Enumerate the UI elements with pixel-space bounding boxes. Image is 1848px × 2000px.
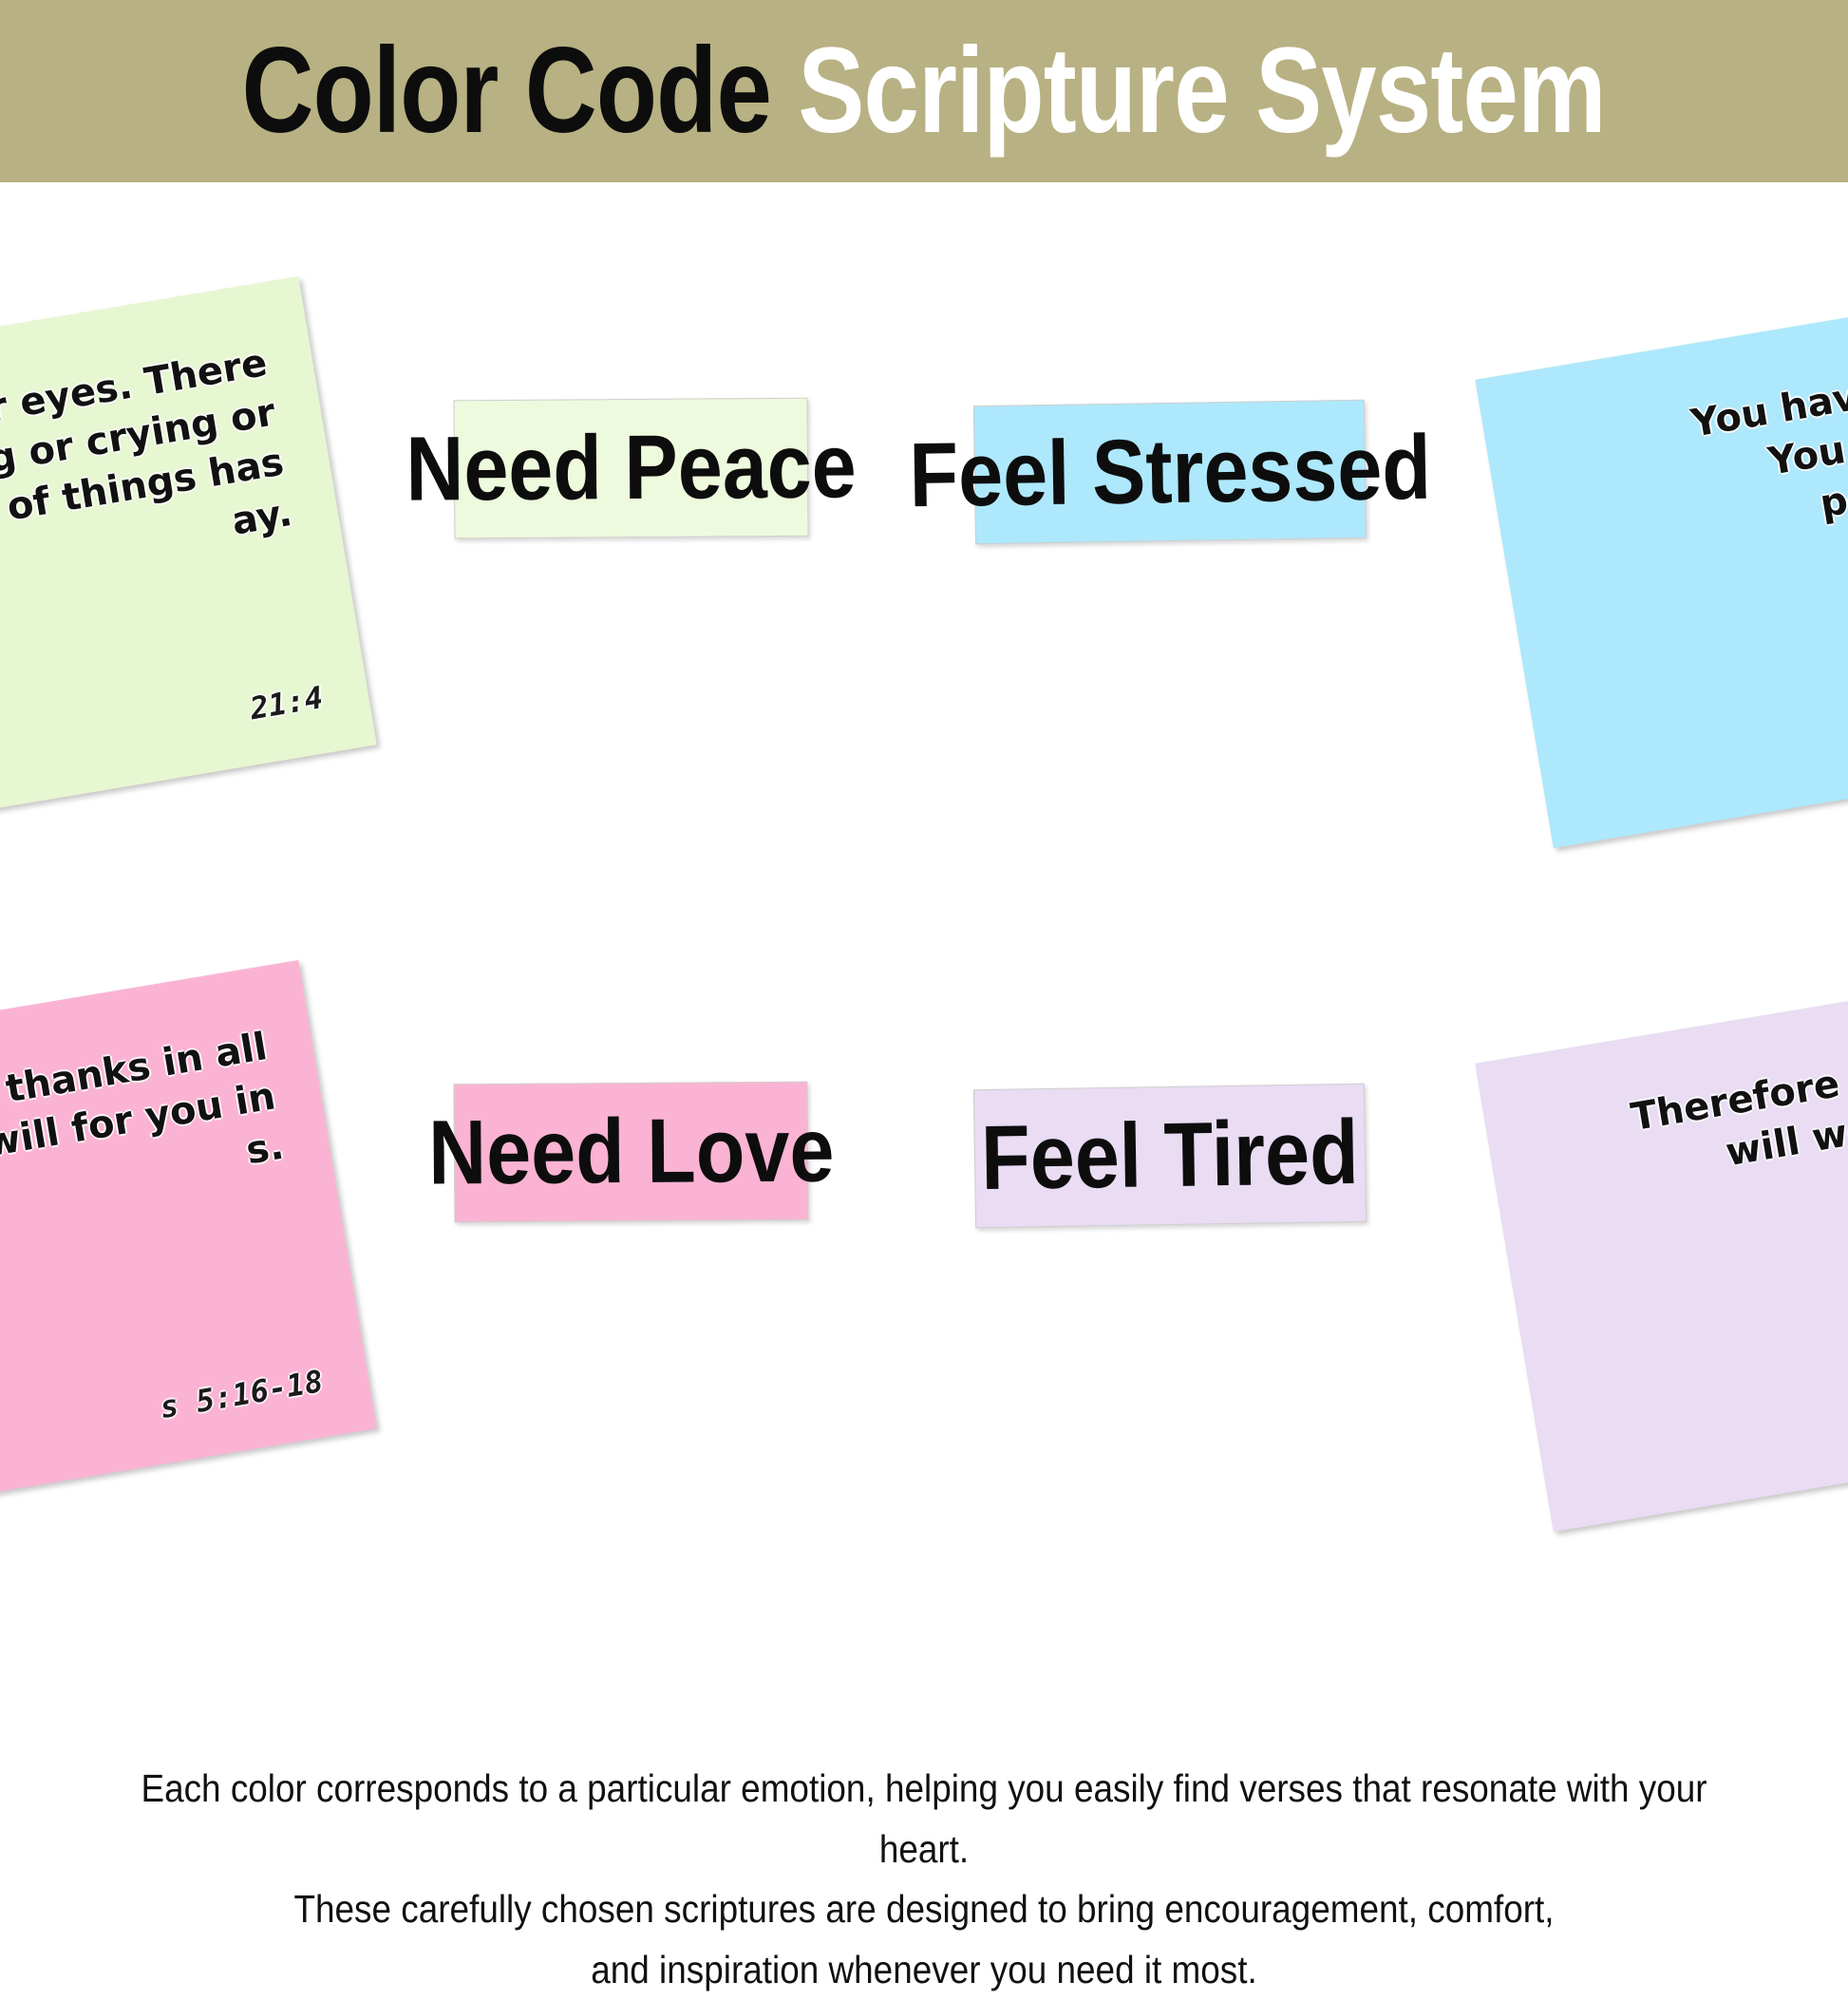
footer-caption-line-3: and inspiration whenever you need it mos… bbox=[92, 1940, 1755, 2000]
footer-caption: Each color corresponds to a particular e… bbox=[0, 1759, 1848, 2000]
verse-card-stressed[interactable]: You have searche You know whe perceive m… bbox=[1475, 276, 1848, 848]
verse-card-love[interactable]: give thanks in all d's will for you in s… bbox=[0, 960, 377, 1532]
label-plate-need-love-text: Need Love bbox=[428, 1105, 835, 1199]
label-plate-need-love[interactable]: Need Love bbox=[453, 1082, 808, 1223]
verse-card-stressed-reference: Psalm bbox=[1586, 679, 1848, 803]
verse-card-peace-reference: 21:4 bbox=[0, 679, 326, 803]
verse-card-stressed-text: You have searche You know whe perceive m… bbox=[1529, 338, 1848, 575]
label-plate-need-peace-text: Need Peace bbox=[405, 421, 857, 515]
verse-card-love-text: give thanks in all d's will for you in s… bbox=[0, 1022, 288, 1259]
verse-card-love-reference: s 5:16-18 bbox=[0, 1363, 326, 1487]
label-plate-feel-stressed[interactable]: Feel Stressed bbox=[973, 400, 1367, 544]
verse-card-tired-text: Therefore do not wo will worry about tro… bbox=[1529, 1022, 1848, 1259]
page-title-space bbox=[771, 23, 798, 159]
label-plate-feel-stressed-text: Feel Stressed bbox=[909, 423, 1432, 522]
footer-caption-line-1: Each color corresponds to a particular e… bbox=[92, 1759, 1755, 1879]
scripture-board: heir eyes. There rning or crying or of t… bbox=[0, 182, 1848, 1848]
label-plate-feel-tired-text: Feel Tired bbox=[981, 1107, 1360, 1204]
page-title-primary: Color Code bbox=[242, 23, 771, 159]
label-plate-need-peace[interactable]: Need Peace bbox=[453, 398, 808, 539]
page-title: Color Code Scripture System bbox=[242, 30, 1606, 152]
footer-caption-line-2: These carefully chosen scriptures are de… bbox=[92, 1879, 1755, 1940]
verse-card-peace[interactable]: heir eyes. There rning or crying or of t… bbox=[0, 276, 377, 848]
verse-card-tired[interactable]: Therefore do not wo will worry about tro… bbox=[1475, 960, 1848, 1532]
page-title-secondary: Scripture System bbox=[799, 23, 1606, 159]
verse-card-tired-reference: Matt bbox=[1586, 1363, 1848, 1487]
verse-card-peace-text: heir eyes. There rning or crying or of t… bbox=[0, 338, 296, 626]
label-plate-feel-tired[interactable]: Feel Tired bbox=[973, 1084, 1367, 1228]
header-banner: Color Code Scripture System bbox=[0, 0, 1848, 182]
